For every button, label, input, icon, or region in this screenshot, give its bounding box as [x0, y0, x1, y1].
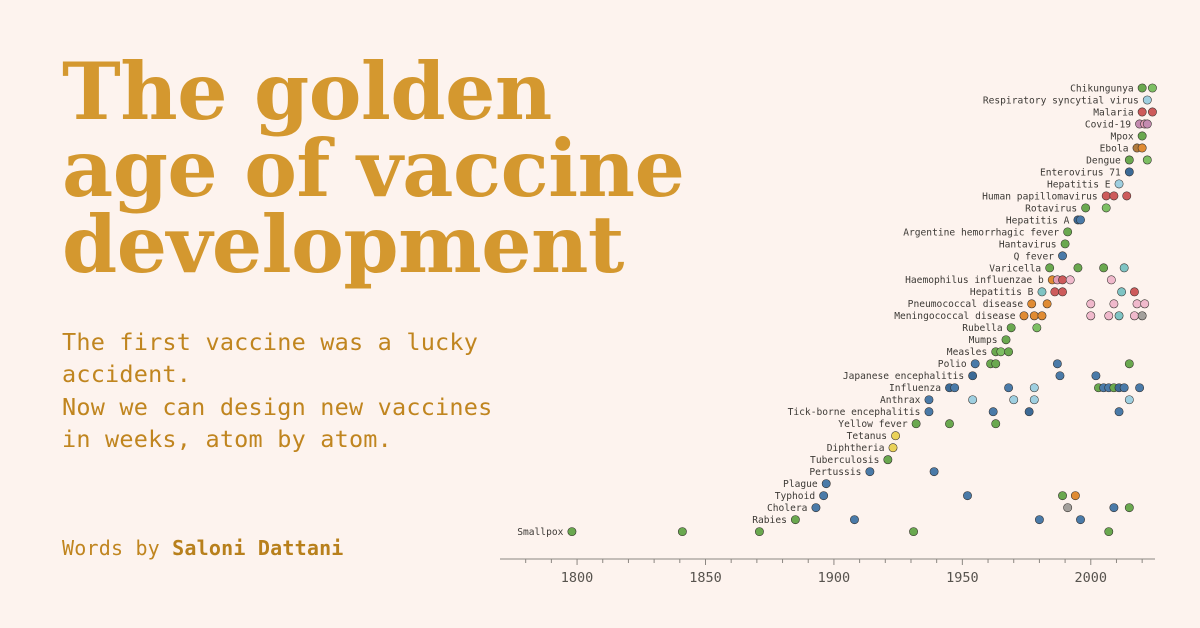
- data-point: [812, 504, 820, 512]
- data-point: [925, 396, 933, 404]
- row-label: Tetanus: [847, 431, 887, 442]
- data-point: [1110, 300, 1118, 308]
- data-point: [997, 348, 1005, 356]
- data-point: [1143, 120, 1151, 128]
- data-point: [791, 515, 799, 523]
- data-point: [950, 384, 958, 392]
- data-point: [1025, 408, 1033, 416]
- data-point: [1002, 336, 1010, 344]
- data-point: [1033, 324, 1041, 332]
- data-point: [1125, 360, 1133, 368]
- data-point: [1030, 312, 1038, 320]
- poster: The golden age of vaccine development Th…: [0, 0, 1200, 628]
- data-point: [1030, 396, 1038, 404]
- row-label: Argentine hemorrhagic fever: [903, 227, 1059, 238]
- data-point: [1105, 527, 1113, 535]
- data-point: [1058, 288, 1066, 296]
- row-label: Hantavirus: [999, 239, 1057, 250]
- data-point: [1053, 276, 1061, 284]
- row-label: Hepatitis A: [1006, 215, 1070, 226]
- data-point: [945, 420, 953, 428]
- row-label: Yellow fever: [838, 419, 908, 430]
- data-point: [1125, 168, 1133, 176]
- data-point: [1107, 276, 1115, 284]
- data-point: [1148, 84, 1156, 92]
- data-point: [1117, 288, 1125, 296]
- data-point: [945, 384, 953, 392]
- data-point: [819, 492, 827, 500]
- data-point: [968, 372, 976, 380]
- data-point: [1133, 144, 1141, 152]
- data-point: [884, 456, 892, 464]
- data-point: [1123, 192, 1131, 200]
- data-point: [1074, 264, 1082, 272]
- row-label: Influenza: [889, 383, 941, 394]
- data-point: [1038, 312, 1046, 320]
- data-point: [992, 420, 1000, 428]
- data-point: [1048, 276, 1056, 284]
- row-label: Tick-borne encephalitis: [788, 407, 921, 418]
- row-label: Tuberculosis: [810, 455, 879, 466]
- data-point: [1141, 120, 1149, 128]
- data-point: [1004, 348, 1012, 356]
- row-label: Chikungunya: [1070, 83, 1134, 94]
- data-point: [925, 408, 933, 416]
- data-point: [1099, 264, 1107, 272]
- data-point: [1110, 504, 1118, 512]
- data-point: [1074, 216, 1082, 224]
- row-label: Mpox: [1111, 131, 1134, 142]
- data-point: [1130, 288, 1138, 296]
- data-point: [678, 527, 686, 535]
- editorial-block: The golden age of vaccine development Th…: [62, 54, 782, 456]
- x-axis-tick-label: 1950: [946, 570, 979, 586]
- data-point: [1058, 276, 1066, 284]
- byline-author: Saloni Dattani: [172, 536, 343, 560]
- data-point: [1061, 240, 1069, 248]
- row-label: Enterovirus 71: [1040, 167, 1121, 178]
- row-label: Plague: [783, 479, 818, 490]
- row-label: Polio: [938, 359, 967, 370]
- data-point: [1141, 300, 1149, 308]
- data-point: [891, 432, 899, 440]
- data-point: [1038, 288, 1046, 296]
- data-point: [1087, 300, 1095, 308]
- data-point: [1125, 504, 1133, 512]
- row-label: Pertussis: [809, 467, 861, 478]
- data-point: [909, 527, 917, 535]
- data-point: [1094, 384, 1102, 392]
- x-axis-tick-label: 1800: [561, 570, 594, 586]
- data-point: [1058, 492, 1066, 500]
- data-point: [1110, 384, 1118, 392]
- data-point: [1115, 384, 1123, 392]
- data-point: [1102, 204, 1110, 212]
- data-point: [850, 515, 858, 523]
- data-point: [1120, 264, 1128, 272]
- data-point: [1115, 180, 1123, 188]
- data-point: [1110, 192, 1118, 200]
- data-point: [1130, 312, 1138, 320]
- data-point: [1148, 108, 1156, 116]
- x-axis-tick-label: 1900: [818, 570, 851, 586]
- row-label: Rotavirus: [1025, 203, 1077, 214]
- data-point: [1138, 84, 1146, 92]
- data-point: [1081, 204, 1089, 212]
- row-label: Varicella: [989, 263, 1041, 274]
- data-point: [1076, 515, 1084, 523]
- data-point: [1102, 192, 1110, 200]
- row-label: Covid-19: [1085, 119, 1131, 130]
- data-point: [1071, 492, 1079, 500]
- data-point: [992, 348, 1000, 356]
- data-point: [930, 468, 938, 476]
- data-point: [1035, 515, 1043, 523]
- data-point: [1020, 312, 1028, 320]
- byline-prefix: Words by: [62, 536, 172, 560]
- data-point: [755, 527, 763, 535]
- row-label: Measles: [947, 347, 987, 358]
- row-label: Hepatitis B: [970, 287, 1034, 298]
- data-point: [971, 360, 979, 368]
- row-label: Diphtheria: [827, 443, 885, 454]
- data-point: [1046, 264, 1054, 272]
- byline: Words by Saloni Dattani: [62, 536, 344, 560]
- data-point: [992, 360, 1000, 368]
- data-point: [822, 480, 830, 488]
- data-point: [1143, 96, 1151, 104]
- data-point: [1115, 408, 1123, 416]
- data-point: [986, 360, 994, 368]
- row-label: Mumps: [969, 335, 998, 346]
- data-point: [1043, 300, 1051, 308]
- row-label: Human papillomavirus: [982, 191, 1098, 202]
- data-point: [963, 492, 971, 500]
- data-point: [1125, 156, 1133, 164]
- row-label: Japanese encephalitis: [843, 371, 964, 382]
- data-point: [1053, 360, 1061, 368]
- data-point: [1138, 144, 1146, 152]
- row-label: Meningococcal disease: [894, 311, 1016, 322]
- row-label: Hepatitis E: [1047, 179, 1111, 190]
- row-label: Rabies: [752, 515, 787, 526]
- data-point: [1138, 312, 1146, 320]
- deck-text: The first vaccine was a lucky accident. …: [62, 326, 782, 456]
- data-point: [912, 420, 920, 428]
- page-title: The golden age of vaccine development: [62, 54, 782, 284]
- x-axis-tick-label: 1850: [689, 570, 722, 586]
- data-point: [1028, 300, 1036, 308]
- row-label: Pneumococcal disease: [908, 299, 1024, 310]
- row-label: Respiratory syncytial virus: [983, 95, 1139, 106]
- data-point: [1004, 384, 1012, 392]
- data-point: [989, 408, 997, 416]
- data-point: [1125, 396, 1133, 404]
- data-point: [1105, 384, 1113, 392]
- data-point: [1076, 216, 1084, 224]
- x-axis-tick-label: 2000: [1075, 570, 1108, 586]
- data-point: [1064, 504, 1072, 512]
- data-point: [1066, 276, 1074, 284]
- data-point: [1138, 108, 1146, 116]
- data-point: [1099, 384, 1107, 392]
- data-point: [1064, 228, 1072, 236]
- data-point: [1115, 312, 1123, 320]
- row-label: Malaria: [1093, 107, 1133, 118]
- row-label: Cholera: [767, 503, 807, 514]
- data-point: [1133, 300, 1141, 308]
- row-label: Typhoid: [775, 491, 815, 502]
- row-label: Rubella: [962, 323, 1002, 334]
- data-point: [1010, 396, 1018, 404]
- row-label: Haemophilus influenzae b: [905, 275, 1044, 286]
- data-point: [1007, 324, 1015, 332]
- row-label: Smallpox: [517, 527, 563, 538]
- row-label: Ebola: [1100, 143, 1129, 154]
- data-point: [1030, 384, 1038, 392]
- data-point: [1105, 312, 1113, 320]
- data-point: [1058, 252, 1066, 260]
- data-point: [1135, 384, 1143, 392]
- row-label: Anthrax: [880, 395, 921, 406]
- data-point: [1056, 372, 1064, 380]
- row-label: Q fever: [1014, 251, 1055, 262]
- data-point: [1143, 156, 1151, 164]
- data-point: [1120, 384, 1128, 392]
- data-point: [568, 527, 576, 535]
- data-point: [1051, 288, 1059, 296]
- data-point: [1092, 372, 1100, 380]
- data-point: [889, 444, 897, 452]
- data-point: [866, 468, 874, 476]
- data-point: [1135, 120, 1143, 128]
- data-point: [1138, 132, 1146, 140]
- data-point: [1087, 312, 1095, 320]
- row-label: Dengue: [1086, 155, 1121, 166]
- data-point: [968, 396, 976, 404]
